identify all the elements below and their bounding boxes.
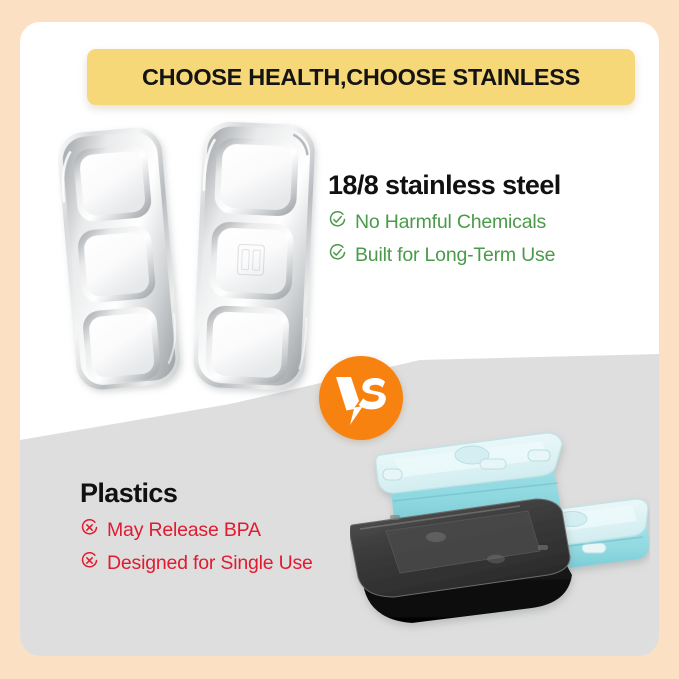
stainless-bullet-0: No Harmful Chemicals	[328, 210, 561, 234]
stainless-title: 18/8 stainless steel	[328, 170, 561, 201]
plastics-title: Plastics	[80, 478, 313, 509]
vs-lightning-glyph	[329, 368, 393, 428]
check-circle-icon	[328, 210, 347, 234]
stainless-steel-section: 18/8 stainless steel No Harmful Chemical…	[328, 170, 561, 267]
x-circle-icon	[80, 518, 99, 542]
header-banner: CHOOSE HEALTH,CHOOSE STAINLESS	[87, 49, 635, 105]
x-circle-icon	[80, 551, 99, 575]
product-comparison-infographic: CHOOSE HEALTH,CHOOSE STAINLESS 18/8 stai…	[0, 0, 679, 679]
plastics-section: Plastics May Release BPA	[80, 478, 313, 575]
header-banner-text: CHOOSE HEALTH,CHOOSE STAINLESS	[142, 64, 580, 91]
plastics-bullet-0: May Release BPA	[80, 518, 313, 542]
plastics-bullet-0-label: May Release BPA	[107, 519, 261, 542]
black-takeout-container	[350, 499, 572, 623]
stainless-bullet-1: Built for Long-Term Use	[328, 243, 561, 267]
check-circle-icon	[328, 243, 347, 267]
stainless-steel-divided-trays	[58, 117, 328, 402]
plastics-bullet-1-label: Designed for Single Use	[107, 552, 313, 575]
infographic-card: CHOOSE HEALTH,CHOOSE STAINLESS 18/8 stai…	[20, 22, 659, 656]
plastics-bullet-1: Designed for Single Use	[80, 551, 313, 575]
stainless-bullet-1-label: Built for Long-Term Use	[355, 244, 555, 267]
stainless-bullet-0-label: No Harmful Chemicals	[355, 211, 546, 234]
plastic-food-containers	[350, 407, 650, 642]
vs-badge	[319, 356, 403, 440]
